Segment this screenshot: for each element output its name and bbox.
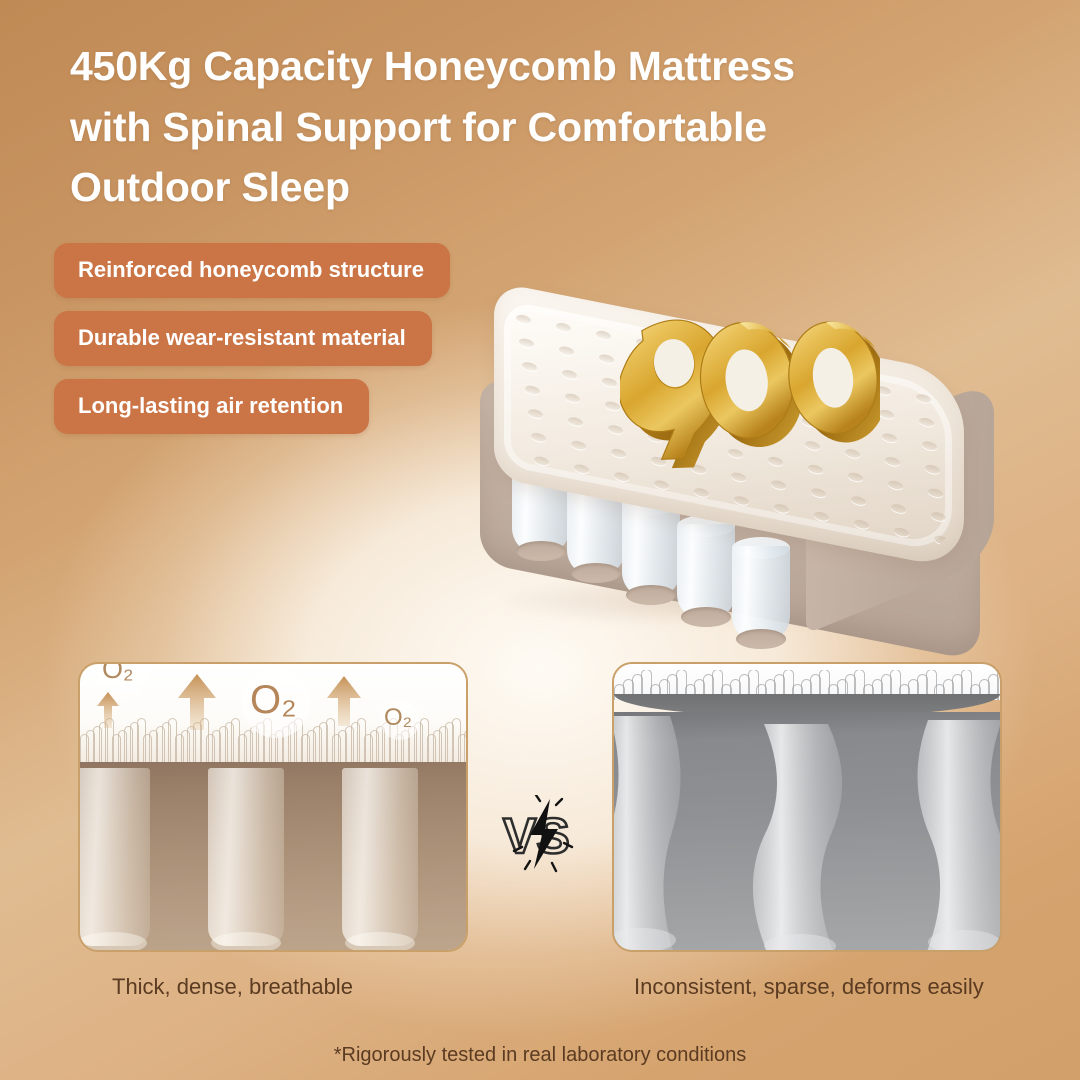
quilt-dimple (534, 455, 549, 466)
coil-tube (732, 546, 790, 642)
quilt-dimple (891, 503, 906, 514)
quilt-dimple (811, 487, 826, 498)
quilt-dimple (562, 369, 577, 380)
quilt-dimple (556, 322, 571, 333)
caption-bad: Inconsistent, sparse, deforms easily (634, 972, 990, 1001)
capacity-badge-900 (620, 296, 880, 486)
quilt-dimple (531, 432, 546, 443)
coil-floor (681, 607, 731, 627)
quilt-dimple (574, 463, 589, 474)
quilt-dimple (854, 519, 869, 530)
coil-floor (571, 563, 621, 583)
quilt-dimple (916, 393, 931, 404)
quilt-dimple (925, 464, 940, 475)
quilt-dimple (922, 440, 937, 451)
quilt-dimple (885, 456, 900, 467)
quilt-dimple (571, 440, 586, 451)
quilt-dimple (888, 479, 903, 490)
feature-pill-2: Durable wear-resistant material (54, 311, 432, 366)
good-column-2 (208, 768, 284, 946)
deformed-columns (614, 712, 1002, 952)
o2-label-2: O₂ (250, 678, 297, 723)
bad-core-body (614, 712, 1000, 952)
comparison-panel-good: O₂ O₂ O₂ (78, 662, 468, 952)
quilt-dimple (516, 314, 531, 325)
quilt-dimple (559, 345, 574, 356)
quilt-dimple (879, 409, 894, 420)
quilt-dimple (522, 361, 537, 372)
feature-pill-3: Long-lasting air retention (54, 379, 369, 434)
coil-floor (736, 629, 786, 649)
quilt-dimple (931, 511, 946, 522)
good-core-body (80, 762, 466, 952)
page-title: 450Kg Capacity Honeycomb Mattress with S… (70, 36, 930, 218)
air-coil (622, 502, 680, 598)
quilt-dimple (934, 535, 949, 546)
good-column-1 (78, 768, 150, 946)
quilt-dimple (519, 337, 534, 348)
coil-floor (626, 585, 676, 605)
vs-label: VS (503, 808, 570, 864)
headline-line-1: 450Kg Capacity Honeycomb Mattress (70, 36, 930, 97)
headline-line-3: Outdoor Sleep (70, 157, 930, 218)
air-coil (732, 546, 790, 642)
quilt-dimple (894, 527, 909, 538)
quilt-dimple (602, 377, 617, 388)
coil-tube (677, 524, 735, 620)
o2-label-1: O₂ (102, 662, 133, 685)
air-coil (677, 524, 735, 620)
quilt-dimple (599, 353, 614, 364)
coil-tube (622, 502, 680, 598)
feature-pill-1: Reinforced honeycomb structure (54, 243, 450, 298)
comparison-panel-bad (612, 662, 1002, 952)
quilt-dimple (525, 385, 540, 396)
quilt-dimple (565, 393, 580, 404)
quilt-dimple (851, 495, 866, 506)
quilt-dimple (596, 330, 611, 341)
quilt-dimple (568, 416, 583, 427)
vs-badge: VS (500, 795, 586, 873)
quilt-dimple (928, 487, 943, 498)
footnote-disclaimer: *Rigorously tested in real laboratory co… (0, 1044, 1080, 1067)
quilt-dimple (694, 487, 709, 498)
quilt-dimple (605, 400, 620, 411)
coil-floor (516, 541, 566, 561)
quilt-dimple (882, 432, 897, 443)
quilt-dimple (528, 408, 543, 419)
hero-product-image (470, 300, 1050, 660)
feature-list: Reinforced honeycomb structure Durable w… (54, 243, 450, 434)
headline-line-2: with Spinal Support for Comfortable (70, 97, 930, 158)
quilt-dimple (814, 511, 829, 522)
caption-good: Thick, dense, breathable (112, 972, 472, 1001)
quilt-dimple (734, 495, 749, 506)
good-column-3 (342, 768, 418, 946)
quilt-dimple (919, 417, 934, 428)
quilt-dimple (774, 503, 789, 514)
o2-label-3: O₂ (384, 704, 412, 732)
